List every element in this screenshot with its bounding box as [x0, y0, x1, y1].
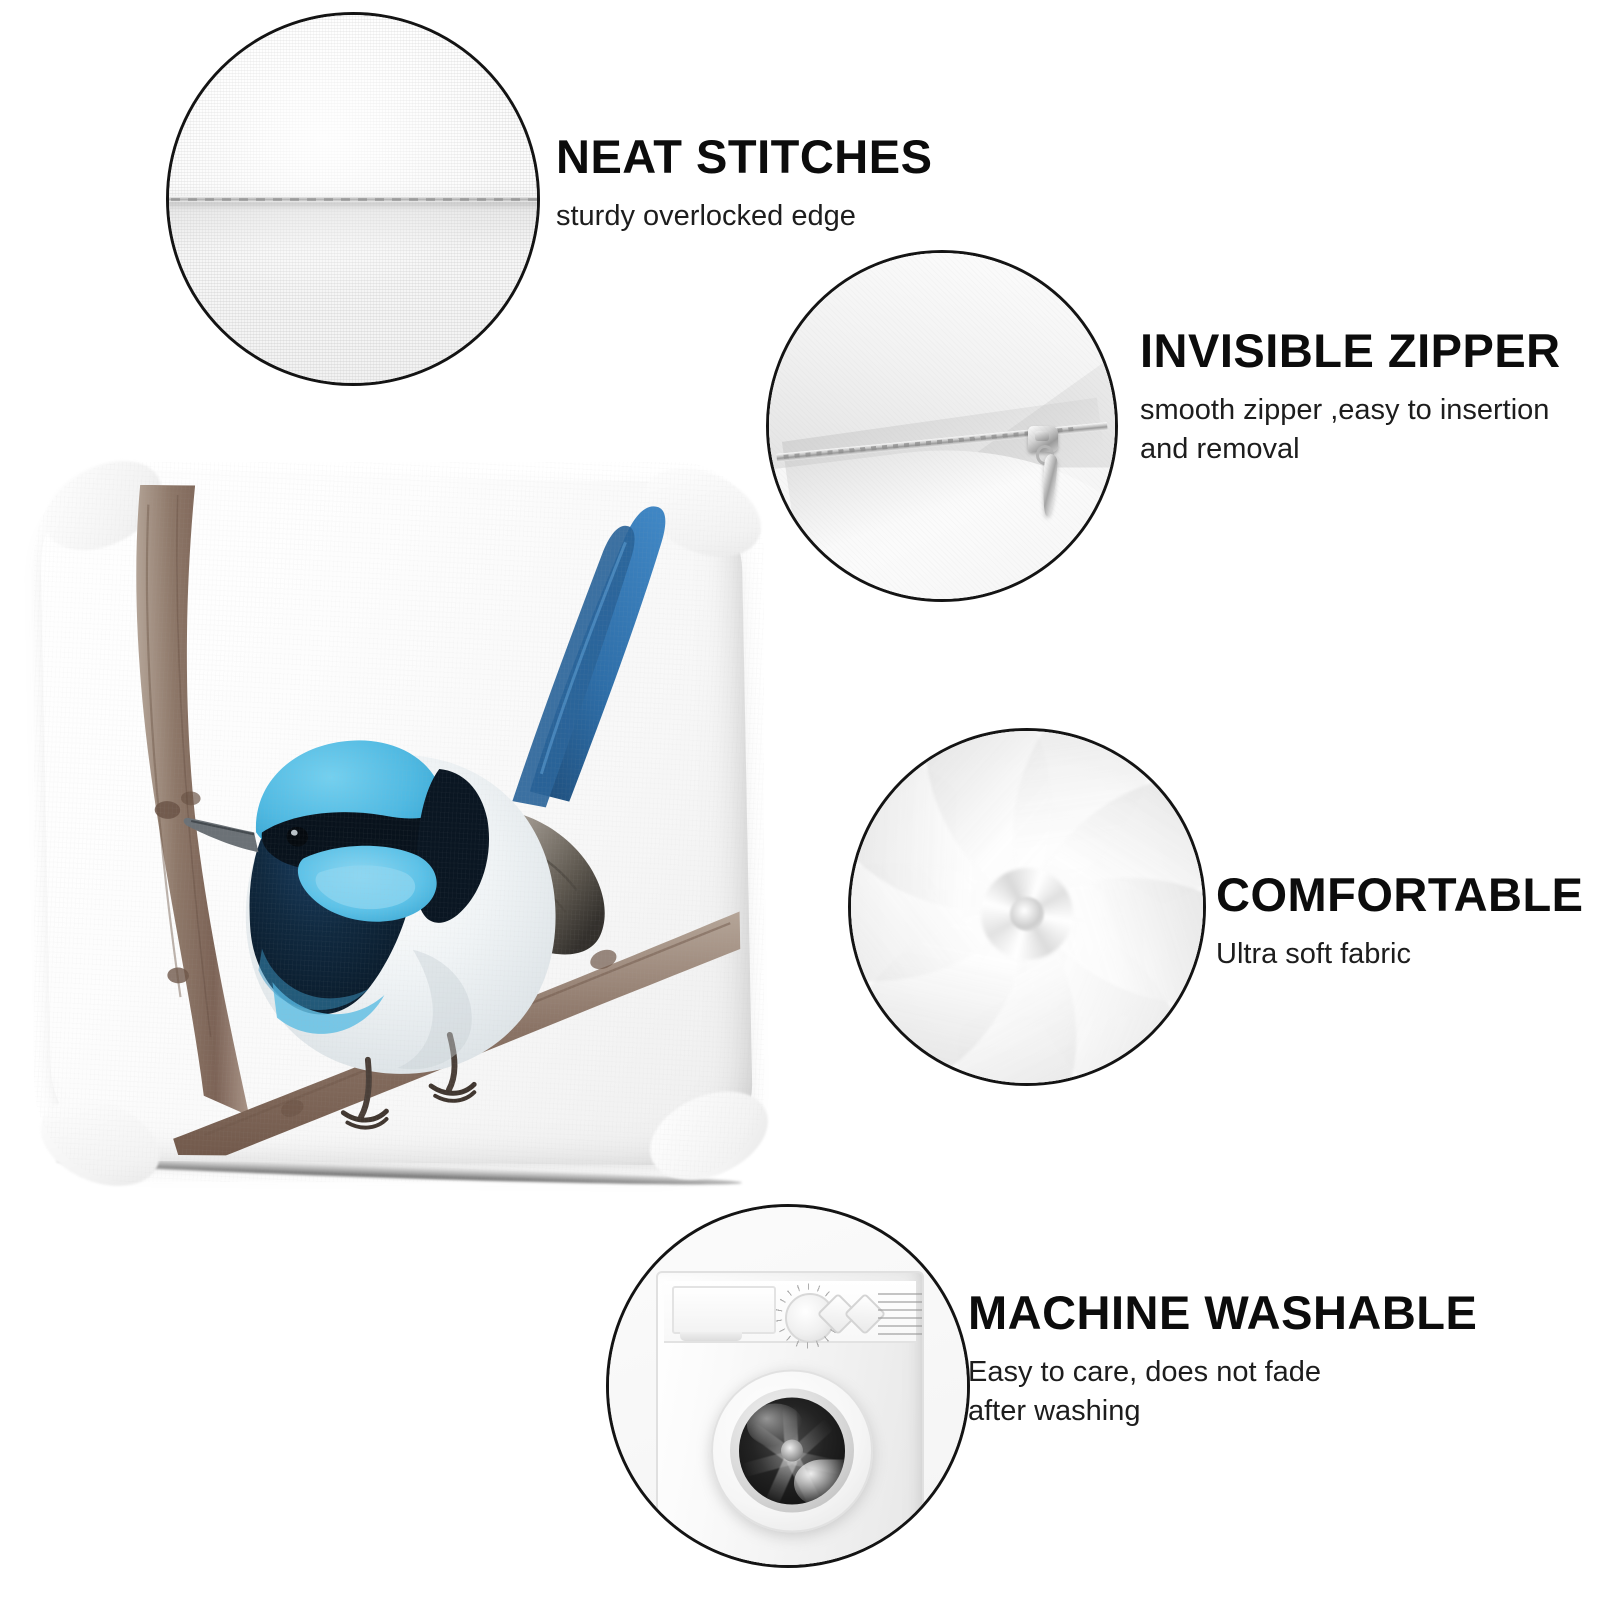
washable-subtitle-line-2: after washing [968, 1392, 1388, 1431]
drum-highlight [794, 1459, 845, 1504]
comfortable-subtitle: Ultra soft fabric [1216, 935, 1584, 974]
machine-washable-title: MACHINE WASHABLE [968, 1288, 1477, 1337]
neat-stitches-title: NEAT STITCHES [556, 132, 932, 181]
invisible-zipper-text: INVISIBLE ZIPPER smooth zipper ,easy to … [1140, 326, 1561, 469]
washable-subtitle-line-1: Easy to care, does not fade [968, 1353, 1388, 1392]
washer-door-ring [730, 1389, 854, 1513]
washing-machine-icon [656, 1271, 925, 1568]
pillow-shape [34, 462, 764, 1182]
zipper-subtitle-line-1: smooth zipper ,easy to insertion [1140, 391, 1561, 430]
invisible-zipper-subtitle: smooth zipper ,easy to insertion and rem… [1140, 391, 1561, 469]
fairywren-bird-artwork [46, 484, 744, 1159]
neat-stitches-text: NEAT STITCHES sturdy overlocked edge [556, 132, 932, 236]
detergent-drawer [672, 1286, 777, 1335]
comfortable-title: COMFORTABLE [1216, 870, 1584, 919]
washer-drum [739, 1398, 846, 1505]
comfortable-image [848, 728, 1206, 1086]
washer-control-panel [664, 1281, 916, 1343]
zipper-subtitle-line-2: and removal [1140, 430, 1561, 469]
washer-indicator-lights [878, 1293, 922, 1339]
seam-shadow [169, 203, 537, 255]
machine-washable-text: MACHINE WASHABLE Easy to care, does not … [968, 1288, 1477, 1431]
swirl-vignette [851, 731, 1203, 1083]
neat-stitches-subtitle: sturdy overlocked edge [556, 197, 932, 236]
stitch-dashes [166, 198, 540, 201]
product-pillow [34, 462, 764, 1182]
infographic-page: NEAT STITCHES sturdy overlocked edge INV… [0, 0, 1600, 1600]
invisible-zipper-image [766, 250, 1118, 602]
washer-door [711, 1369, 874, 1532]
pillow-print-area [46, 484, 744, 1159]
machine-washable-image [606, 1204, 970, 1568]
neat-stitches-image [166, 12, 540, 386]
zipper-fabric-texture [769, 253, 1115, 599]
machine-washable-subtitle: Easy to care, does not fade after washin… [968, 1353, 1388, 1431]
door-glass-reflection [747, 1404, 802, 1447]
comfortable-text: COMFORTABLE Ultra soft fabric [1216, 870, 1584, 974]
invisible-zipper-title: INVISIBLE ZIPPER [1140, 326, 1561, 375]
